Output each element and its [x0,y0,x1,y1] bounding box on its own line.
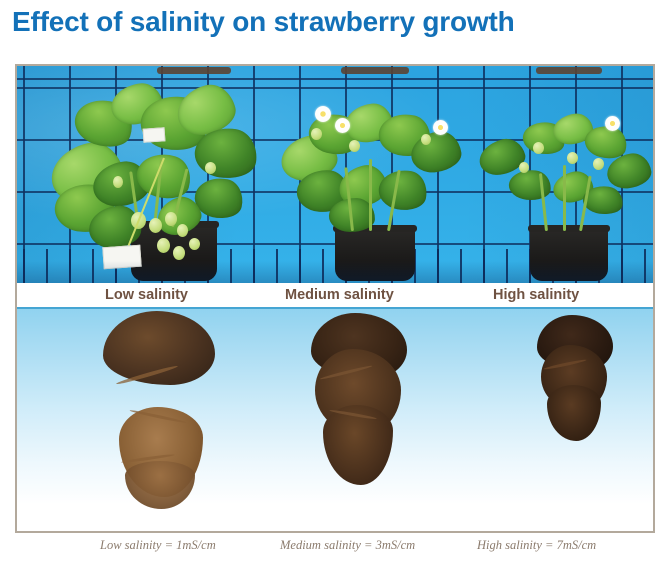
fruit [173,246,185,260]
plant-high-salinity [479,66,653,283]
fruit [113,176,123,188]
root-medium-salinity [305,313,415,491]
caption-row: Low salinity = 1mS/cm Medium salinity = … [15,538,655,558]
leaf [376,166,430,214]
label-low-salinity: Low salinity [105,287,188,303]
leaf [508,168,553,202]
fruit [593,158,604,170]
photo-top-edge [17,307,653,309]
plant-tag [143,127,166,143]
fruit [149,218,162,233]
figure-page: Effect of salinity on strawberry growth [0,0,665,565]
fruit [519,162,529,173]
root-low-salinity [95,311,225,511]
fruit [349,140,360,152]
flower [335,118,350,133]
treatment-label-band: Low salinity Medium salinity High salini… [17,283,653,307]
top-photo-plants [17,66,653,283]
plant-low-salinity [45,66,275,283]
fruit [177,224,188,237]
caption-medium-salinity: Medium salinity = 3mS/cm [280,538,415,553]
fruit [189,238,200,250]
bottom-photo-roots [17,307,653,531]
stem [563,165,566,231]
fruit [165,212,177,226]
flower [315,106,331,122]
fruit [567,152,578,164]
caption-high-salinity: High salinity = 7mS/cm [477,538,596,553]
fruit [205,162,216,174]
fruit [533,142,544,154]
ground-shadow [17,261,653,283]
soil-medium [341,67,409,74]
soil-low [157,67,231,74]
label-high-salinity: High salinity [493,287,579,303]
stem [369,159,372,231]
fruit [421,134,431,145]
root-high-salinity [533,315,619,447]
soil-high [536,67,602,74]
plant-medium-salinity [275,66,475,283]
fruit [157,238,170,253]
root-mass [547,385,601,441]
label-medium-salinity: Medium salinity [285,287,394,303]
flower [605,116,620,131]
fruit [311,128,322,140]
root-mass [125,461,195,509]
flower [433,120,448,135]
page-title: Effect of salinity on strawberry growth [12,6,515,38]
caption-low-salinity: Low salinity = 1mS/cm [100,538,216,553]
figure-frame: Low salinity Medium salinity High salini… [15,64,655,533]
